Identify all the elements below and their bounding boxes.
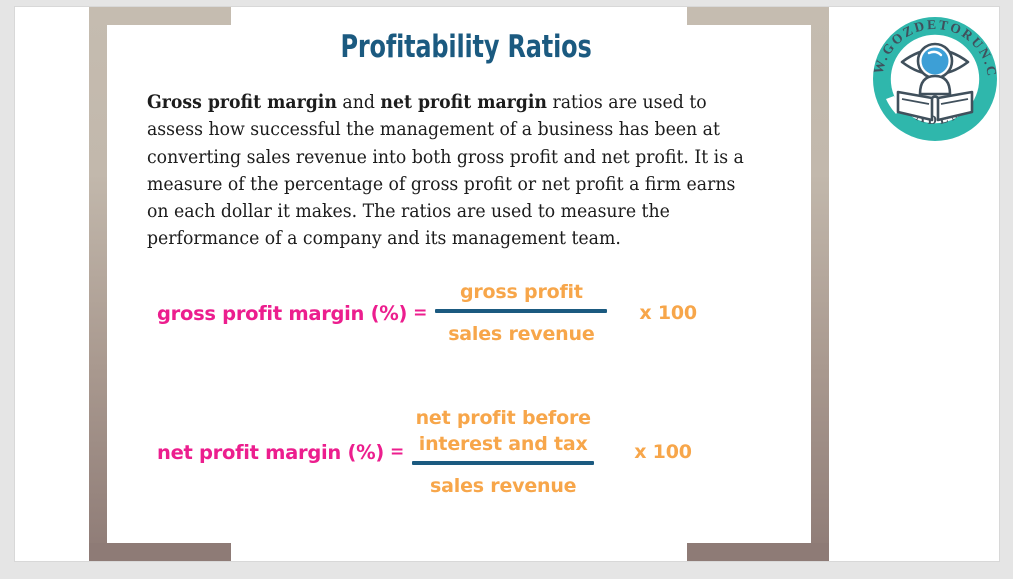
body-paragraph: Gross profit margin and net profit margi…	[147, 89, 755, 253]
slide-canvas: Profitability Ratios Gross profit margin…	[14, 6, 1000, 562]
frame-arm-bottom-right	[687, 543, 829, 561]
fraction-denominator-gross: sales revenue	[448, 313, 594, 347]
academy-logo-icon: WWW.GOZDETORUN.COM ACADEMY	[862, 6, 1008, 152]
frame-arm-bottom-left	[89, 543, 231, 561]
formula-label-gross: gross profit margin (%)	[157, 302, 407, 325]
formula-gross-profit-margin: gross profit margin (%) = gross profit s…	[157, 279, 697, 347]
frame-arm-top-right	[687, 7, 829, 25]
fraction-gross: gross profit sales revenue	[435, 279, 607, 347]
formula-net-profit-margin: net profit margin (%) = net profit befor…	[157, 405, 692, 499]
formula-equals-gross: =	[413, 303, 427, 323]
fraction-net: net profit before interest and tax sales…	[412, 405, 594, 499]
body-segment-0: Gross profit margin	[147, 92, 337, 113]
body-segment-1: and	[337, 92, 380, 113]
fraction-numerator-net: net profit before interest and tax	[416, 405, 591, 461]
formula-multiplier-gross: x 100	[639, 302, 697, 324]
frame-bar-right	[811, 7, 829, 561]
frame-bar-left	[89, 7, 107, 561]
academy-logo: WWW.GOZDETORUN.COM ACADEMY	[862, 6, 1008, 152]
formula-label-net: net profit margin (%)	[157, 441, 384, 464]
formula-equals-net: =	[390, 442, 404, 462]
fraction-denominator-net: sales revenue	[430, 465, 576, 499]
page-title: Profitability Ratios	[169, 29, 762, 65]
fraction-numerator-gross: gross profit	[460, 279, 583, 309]
body-segment-2: net profit margin	[380, 92, 547, 113]
formula-multiplier-net: x 100	[634, 441, 692, 463]
frame-arm-top-left	[89, 7, 231, 25]
body-segment-3: ratios are used to assess how successful…	[147, 92, 744, 249]
